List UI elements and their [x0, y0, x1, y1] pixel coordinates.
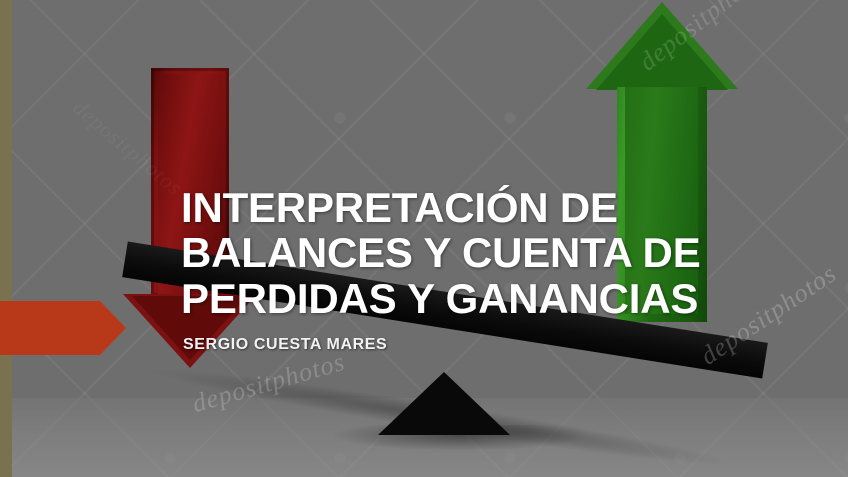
page-title-line-3: PERDIDAS Y GANANCIAS	[181, 276, 741, 321]
orange-arrow-banner	[0, 301, 126, 355]
green-arrow-head-inner	[596, 14, 728, 90]
presentation-title-slide: depositphotos depositphotos depositphoto…	[0, 0, 848, 477]
page-subtitle-author: SERGIO CUESTA MARES	[183, 336, 387, 354]
page-title-line-2: BALANCES Y CUENTA DE	[181, 230, 741, 275]
left-olive-stripe	[0, 0, 12, 477]
page-title: INTERPRETACIÓN DE BALANCES Y CUENTA DE P…	[181, 185, 741, 321]
page-title-line-1: INTERPRETACIÓN DE	[181, 185, 741, 230]
seesaw-fulcrum	[378, 372, 510, 435]
